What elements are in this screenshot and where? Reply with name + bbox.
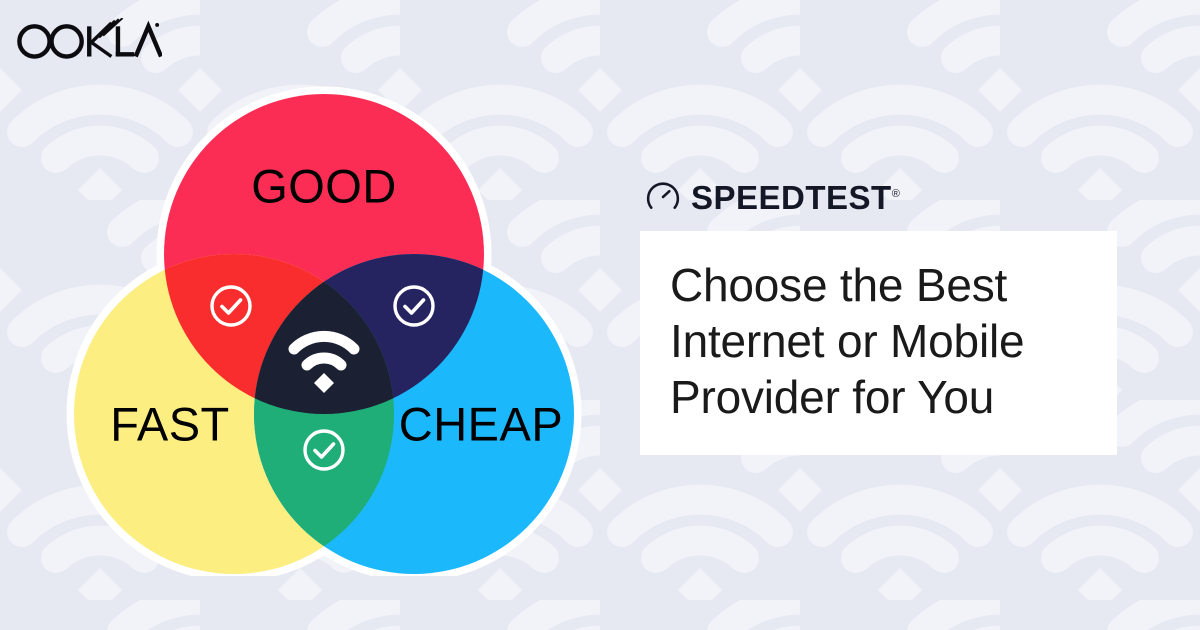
venn-label-fast: FAST xyxy=(110,397,230,450)
page-title: Choose the Best Internet or Mobile Provi… xyxy=(670,257,1087,425)
headline-line-3: Provider for You xyxy=(670,369,1087,425)
ookla-letter-l xyxy=(116,26,134,56)
speedtest-logo[interactable]: SPEEDTEST® xyxy=(640,175,1120,219)
ookla-registered-mark xyxy=(155,23,159,27)
speedtest-wordmark-label: SPEEDTEST xyxy=(691,179,892,216)
ookla-letter-o1 xyxy=(19,26,49,56)
speedometer-gauge-icon xyxy=(646,180,680,214)
venn-label-cheap: CHEAP xyxy=(399,397,563,450)
headline-card: Choose the Best Internet or Mobile Provi… xyxy=(640,231,1117,455)
venn-label-good: GOOD xyxy=(251,159,397,212)
headline-line-1: Choose the Best xyxy=(670,257,1087,313)
ookla-letter-a xyxy=(136,26,161,56)
speedtest-wordmark-text: SPEEDTEST® xyxy=(691,181,900,214)
ookla-letter-o2 xyxy=(52,26,82,56)
right-content-column: SPEEDTEST® Choose the Best Internet or M… xyxy=(640,175,1120,455)
poster-canvas: GOOD FAST CHEAP xyxy=(0,0,1200,630)
venn-diagram: GOOD FAST CHEAP xyxy=(56,66,596,576)
headline-line-2: Internet or Mobile xyxy=(670,313,1087,369)
registered-trademark-symbol: ® xyxy=(892,188,900,200)
ookla-logo[interactable] xyxy=(16,18,162,60)
